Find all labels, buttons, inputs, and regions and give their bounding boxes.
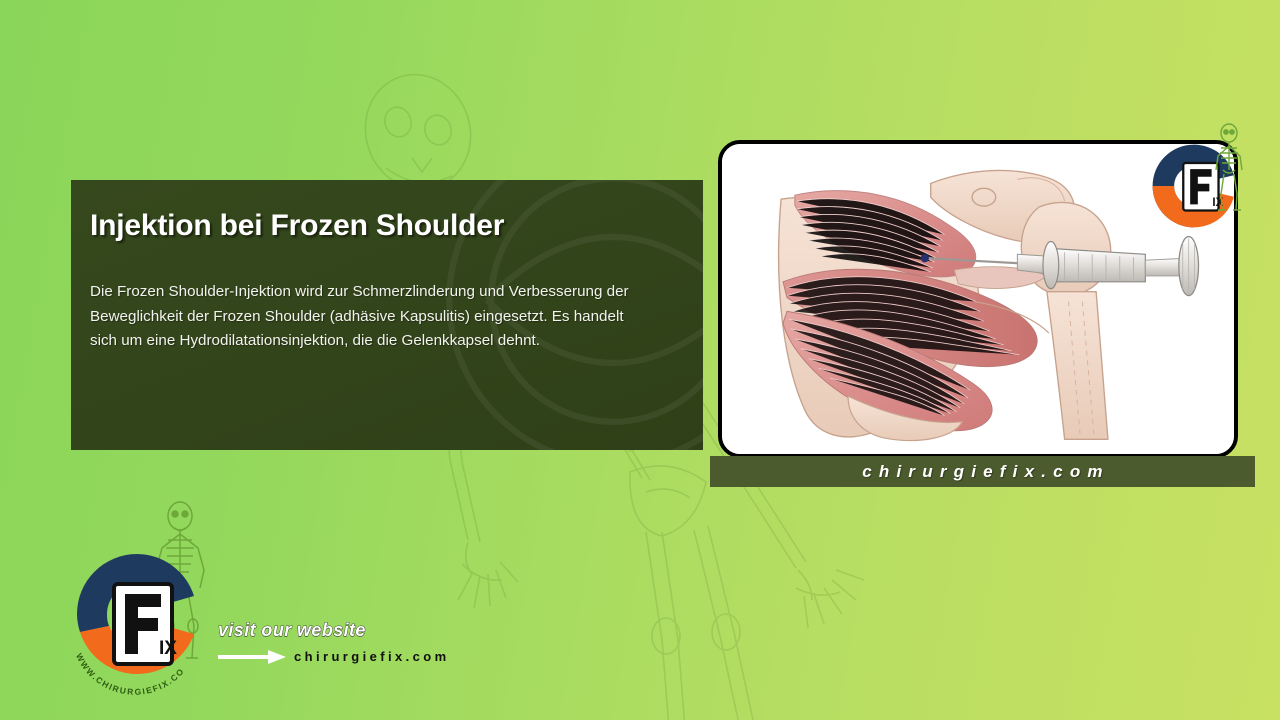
cta-row[interactable]: chirurgiefix.com <box>218 649 518 664</box>
headline-panel: Injektion bei Frozen Shoulder Die Frozen… <box>71 180 703 450</box>
cta-url-text[interactable]: chirurgiefix.com <box>294 649 450 664</box>
brand-logo[interactable]: IX WWW.CHIRURGIEFIX.COM <box>62 546 212 706</box>
cta-block[interactable]: visit our website chirurgiefix.com <box>218 620 518 680</box>
site-url-text: chirurgiefix.com <box>855 462 1109 482</box>
page-title: Injektion bei Frozen Shoulder <box>90 209 504 243</box>
arrow-right-icon <box>218 650 286 664</box>
panel-description: Die Frozen Shoulder-Injektion wird zur S… <box>90 280 650 354</box>
corner-skeleton-icon <box>1206 122 1252 214</box>
svg-text:IX: IX <box>159 638 177 659</box>
cta-heading: visit our website <box>218 620 518 641</box>
site-url-bar: chirurgiefix.com <box>710 456 1255 487</box>
